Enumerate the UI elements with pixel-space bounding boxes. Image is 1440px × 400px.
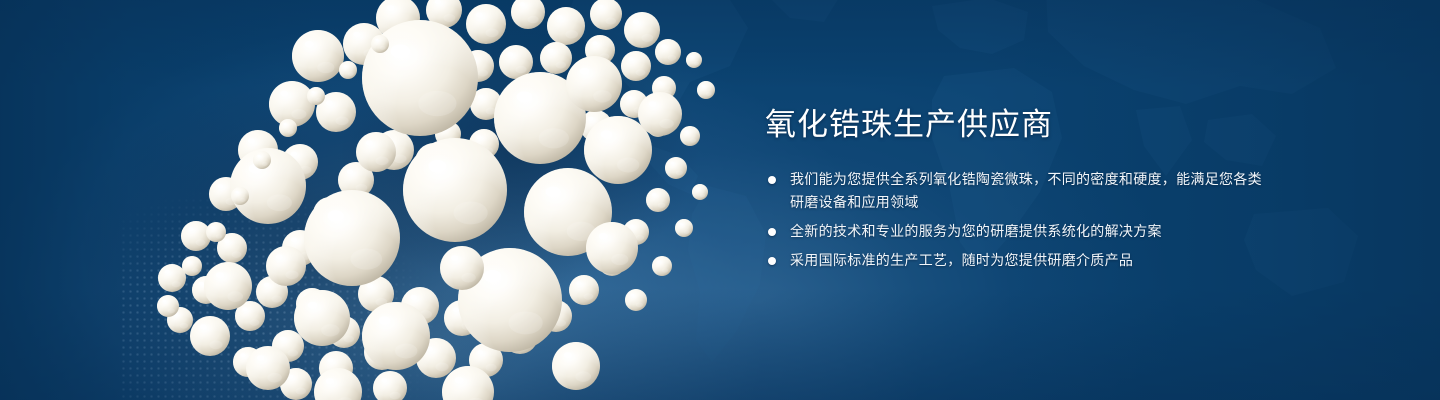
list-item-label: 全新的技术和专业的服务为您的研磨提供系统化的解决方案	[790, 220, 1265, 243]
bullet-dot-icon	[768, 257, 776, 265]
list-item: 全新的技术和专业的服务为您的研磨提供系统化的解决方案	[765, 220, 1265, 243]
bullet-dot-icon	[768, 176, 776, 184]
page-title: 氧化锆珠生产供应商	[765, 104, 1265, 146]
list-item-label: 我们能为您提供全系列氧化锆陶瓷微珠，不同的密度和硬度，能满足您各类研磨设备和应用…	[790, 168, 1265, 214]
bullet-dot-icon	[768, 228, 776, 236]
list-item: 采用国际标准的生产工艺，随时为您提供研磨介质产品	[765, 249, 1265, 272]
list-item-label: 采用国际标准的生产工艺，随时为您提供研磨介质产品	[790, 249, 1265, 272]
hero-banner: 氧化锆珠生产供应商 我们能为您提供全系列氧化锆陶瓷微珠，不同的密度和硬度，能满足…	[0, 0, 1440, 400]
banner-copy: 氧化锆珠生产供应商 我们能为您提供全系列氧化锆陶瓷微珠，不同的密度和硬度，能满足…	[765, 104, 1265, 272]
feature-list: 我们能为您提供全系列氧化锆陶瓷微珠，不同的密度和硬度，能满足您各类研磨设备和应用…	[765, 168, 1265, 272]
list-item: 我们能为您提供全系列氧化锆陶瓷微珠，不同的密度和硬度，能满足您各类研磨设备和应用…	[765, 168, 1265, 214]
